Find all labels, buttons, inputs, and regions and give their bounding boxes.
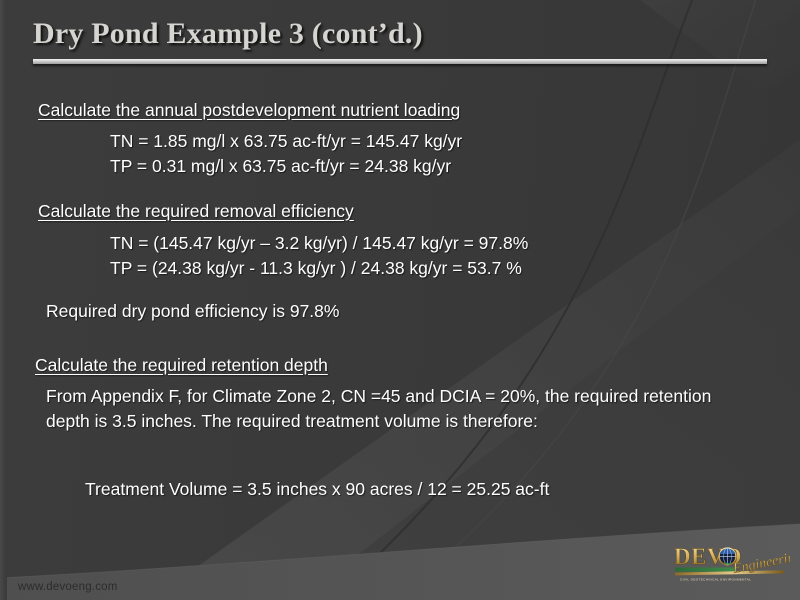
equation-tp-efficiency: TP = (24.38 kg/yr - 11.3 kg/yr ) / 24.38… (110, 258, 522, 279)
logo-green-bar (675, 568, 735, 572)
footer-website-url[interactable]: www.devoeng.com (18, 581, 118, 593)
equation-tp-loading: TP = 0.31 mg/l x 63.75 ac-ft/yr = 24.38 … (110, 156, 451, 177)
slide-canvas: Dry Pond Example 3 (cont’d.) Calculate t… (0, 0, 800, 600)
equation-tn-loading: TN = 1.85 mg/l x 63.75 ac-ft/yr = 145.47… (110, 131, 462, 152)
retention-paragraph: From Appendix F, for Climate Zone 2, CN … (46, 384, 746, 434)
equation-tn-efficiency: TN = (145.47 kg/yr – 3.2 kg/yr) / 145.47… (110, 233, 528, 254)
result-statement: Required dry pond efficiency is 97.8% (46, 301, 339, 322)
section-heading-nutrient-loading: Calculate the annual postdevelopment nut… (38, 100, 460, 121)
slide-body: Calculate the annual postdevelopment nut… (0, 0, 800, 600)
section-heading-retention-depth: Calculate the required retention depth (35, 355, 328, 376)
logo-tagline: CIVIL GEOTECHNICAL ENVIRONMENTAL (680, 578, 751, 582)
equation-treatment-volume: Treatment Volume = 3.5 inches x 90 acres… (85, 479, 549, 500)
section-heading-removal-efficiency: Calculate the required removal efficienc… (38, 201, 354, 222)
devo-engineering-logo: DEVO CIVIL GEOTECHNICAL ENVIRONMENTAL En… (672, 540, 790, 588)
